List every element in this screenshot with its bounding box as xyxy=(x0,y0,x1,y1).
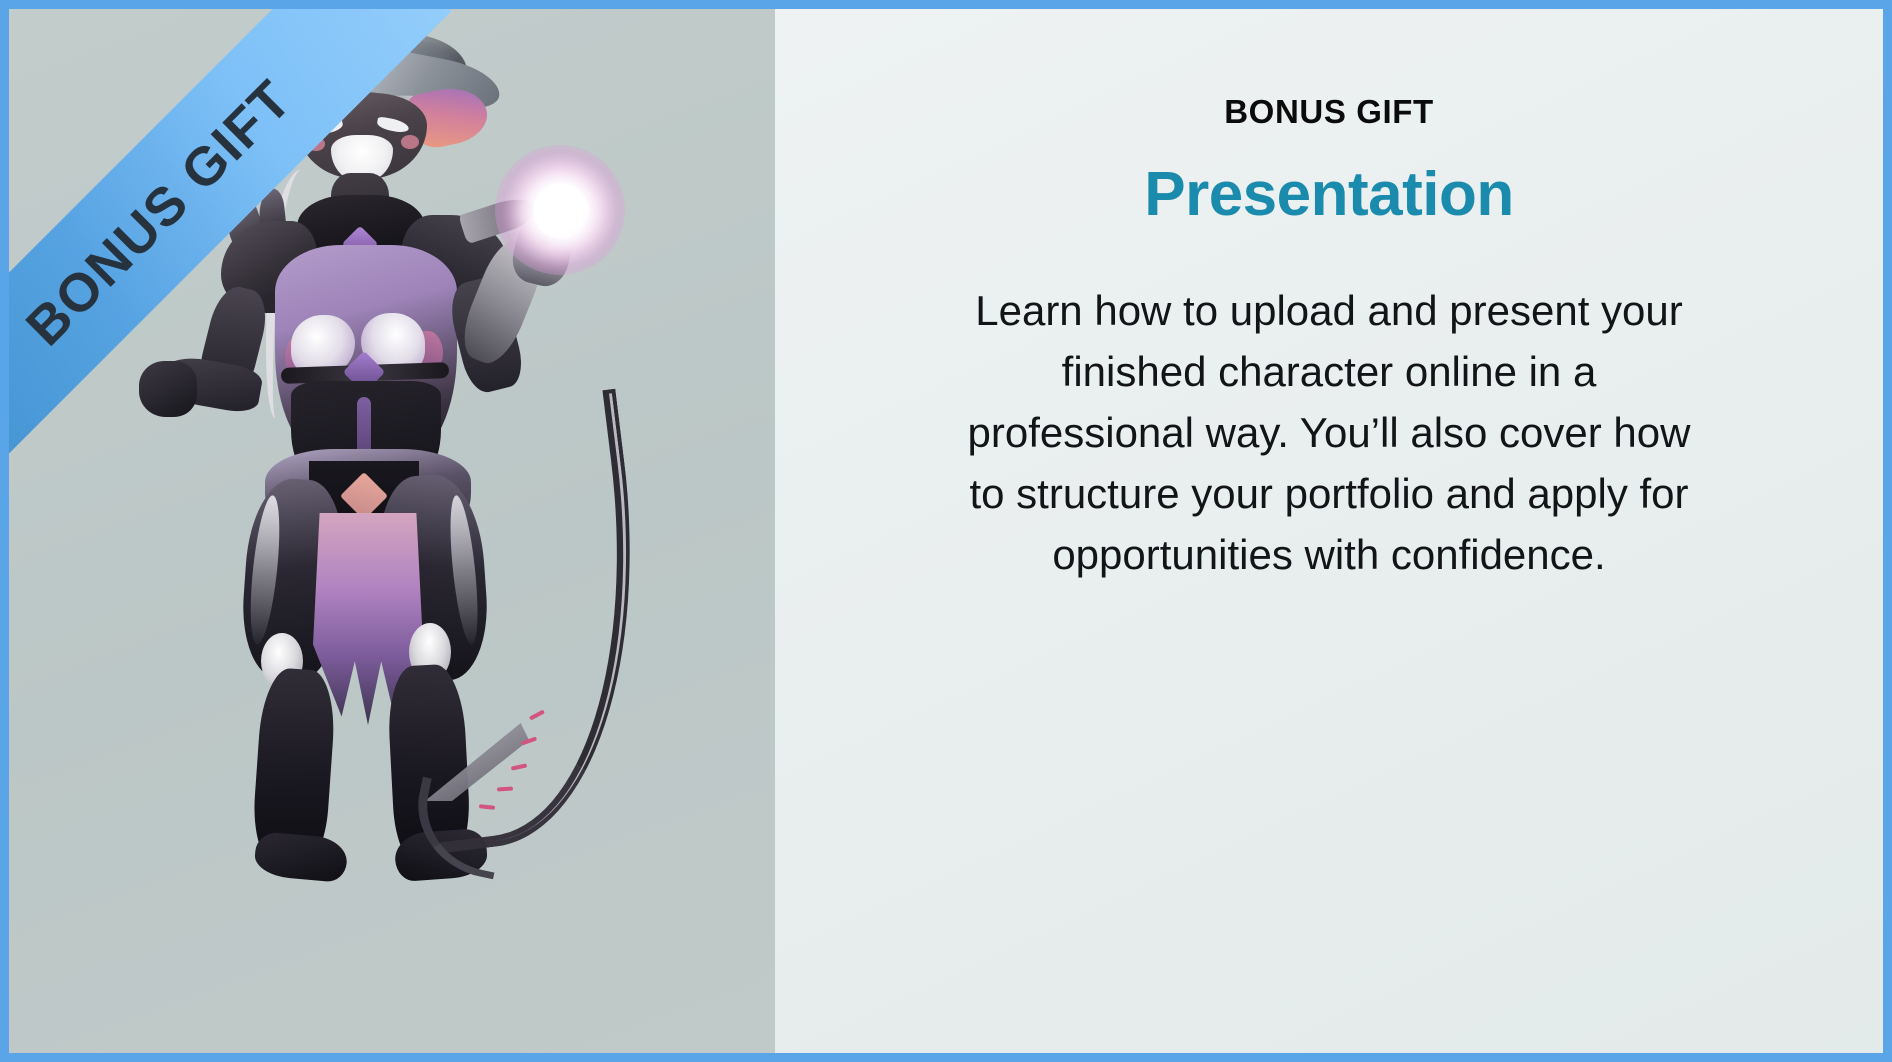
card-inner: BONUS GIFT BONUS GIFT Presentation Learn… xyxy=(9,9,1883,1053)
cheek-marking-right xyxy=(401,135,419,149)
artwork-panel: BONUS GIFT xyxy=(9,9,775,1053)
helmet-triangle-inner-icon xyxy=(353,71,375,88)
character-illustration xyxy=(9,9,775,1053)
page-title: Presentation xyxy=(1144,162,1514,229)
body-paragraph: Learn how to upload and present your fin… xyxy=(949,281,1709,585)
glowing-orb-icon xyxy=(533,183,589,239)
bonus-gift-card: BONUS GIFT BONUS GIFT Presentation Learn… xyxy=(0,0,1892,1062)
eyebrow-label: BONUS GIFT xyxy=(1224,94,1434,130)
text-panel: BONUS GIFT Presentation Learn how to upl… xyxy=(775,9,1883,1053)
cheek-marking-left xyxy=(307,137,325,151)
fist-left xyxy=(139,361,197,417)
boot-left xyxy=(253,831,348,883)
